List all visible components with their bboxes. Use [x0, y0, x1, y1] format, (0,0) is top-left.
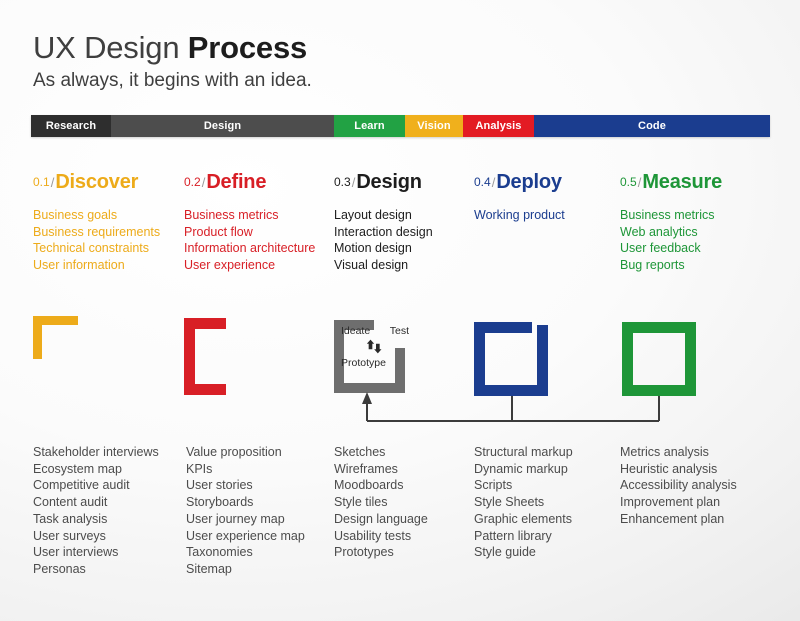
page-title: UX Design Process	[33, 30, 307, 66]
stage-separator: /	[352, 175, 356, 190]
deliverable-item: Graphic elements	[474, 511, 573, 528]
deliverable-item: User experience map	[186, 528, 305, 545]
stage-name: Design	[356, 171, 421, 193]
stage-number: 0.2	[184, 175, 201, 189]
deliverable-column: Structural markupDynamic markupScriptsSt…	[474, 444, 573, 561]
deliverable-column: Metrics analysisHeuristic analysisAccess…	[620, 444, 737, 528]
shape-measure-square	[622, 322, 696, 396]
stage-activity-item: Interaction design	[334, 224, 433, 241]
stage-separator: /	[51, 175, 55, 190]
deliverable-item: User surveys	[33, 528, 159, 545]
deliverable-item: Sketches	[334, 444, 428, 461]
deliverable-list: Value propositionKPIsUser storiesStorybo…	[186, 444, 305, 578]
phase-bar: ResearchDesignLearnVisionAnalysisCode	[31, 115, 770, 137]
deliverable-item: Improvement plan	[620, 494, 737, 511]
title-light-part: UX Design	[33, 30, 188, 65]
stage-activity-list: Business goalsBusiness requirementsTechn…	[33, 207, 160, 273]
deliverable-item: Content audit	[33, 494, 159, 511]
stage-column-define: 0.2/DefineBusiness metricsProduct flowIn…	[184, 172, 315, 273]
deliverable-list: SketchesWireframesMoodboardsStyle tilesD…	[334, 444, 428, 561]
phase-segment-vision[interactable]: Vision	[405, 115, 463, 137]
deliverable-item: Heuristic analysis	[620, 461, 737, 478]
page-subtitle: As always, it begins with an idea.	[33, 70, 312, 92]
deliverable-list: Stakeholder interviewsEcosystem mapCompe…	[33, 444, 159, 578]
deliverable-item: Style Sheets	[474, 494, 573, 511]
stage-activity-item: Motion design	[334, 240, 433, 257]
deliverable-column: SketchesWireframesMoodboardsStyle tilesD…	[334, 444, 428, 561]
deliverable-item: Design language	[334, 511, 428, 528]
stage-separator: /	[202, 175, 206, 190]
deliverable-item: Dynamic markup	[474, 461, 573, 478]
stage-activity-item: Visual design	[334, 257, 433, 274]
design-cycle-test: Test	[390, 325, 409, 337]
deliverable-item: Taxonomies	[186, 544, 305, 561]
deliverable-item: User interviews	[33, 544, 159, 561]
stage-activity-item: User information	[33, 257, 160, 274]
stage-activity-list: Business metricsProduct flowInformation …	[184, 207, 315, 273]
phase-segment-design[interactable]: Design	[111, 115, 334, 137]
stage-column-deploy: 0.4/DeployWorking product	[474, 172, 565, 224]
title-bold-part: Process	[188, 30, 307, 65]
deliverable-item: Prototypes	[334, 544, 428, 561]
cycle-arrows-icon	[365, 339, 387, 354]
deliverable-item: Scripts	[474, 477, 573, 494]
stage-separator: /	[492, 175, 496, 190]
deliverable-item: Ecosystem map	[33, 461, 159, 478]
stage-activity-item: Technical constraints	[33, 240, 160, 257]
stage-activity-item: Business metrics	[620, 207, 722, 224]
stage-heading-measure: 0.5/Measure	[620, 172, 722, 192]
deliverable-item: Style tiles	[334, 494, 428, 511]
deliverable-item: Structural markup	[474, 444, 573, 461]
deliverable-item: Pattern library	[474, 528, 573, 545]
design-cycle-prototype: Prototype	[341, 357, 411, 369]
deliverable-list: Metrics analysisHeuristic analysisAccess…	[620, 444, 737, 528]
stage-name: Discover	[55, 171, 138, 193]
deliverable-item: Metrics analysis	[620, 444, 737, 461]
phase-segment-analysis[interactable]: Analysis	[463, 115, 534, 137]
deliverable-item: Personas	[33, 561, 159, 578]
deliverable-list: Structural markupDynamic markupScriptsSt…	[474, 444, 573, 561]
stage-heading-deploy: 0.4/Deploy	[474, 172, 565, 192]
stage-number: 0.1	[33, 175, 50, 189]
deliverable-item: Task analysis	[33, 511, 159, 528]
deliverable-item: Moodboards	[334, 477, 428, 494]
stage-number: 0.5	[620, 175, 637, 189]
stage-separator: /	[638, 175, 642, 190]
stage-activity-item: Web analytics	[620, 224, 722, 241]
stage-activity-list: Working product	[474, 207, 565, 224]
stage-activity-item: Business goals	[33, 207, 160, 224]
design-cycle-labels: Ideate Test Prototype	[341, 325, 411, 369]
stage-heading-design: 0.3/Design	[334, 172, 433, 192]
deliverable-column: Value propositionKPIsUser storiesStorybo…	[186, 444, 305, 578]
deliverable-item: KPIs	[186, 461, 305, 478]
stage-number: 0.4	[474, 175, 491, 189]
shape-deploy-square	[474, 322, 548, 396]
design-cycle-ideate: Ideate	[341, 325, 370, 337]
deliverable-item: Value proposition	[186, 444, 305, 461]
stage-column-measure: 0.5/MeasureBusiness metricsWeb analytics…	[620, 172, 722, 273]
stage-heading-discover: 0.1/Discover	[33, 172, 160, 192]
phase-segment-code[interactable]: Code	[534, 115, 770, 137]
stage-activity-item: User experience	[184, 257, 315, 274]
stage-activity-item: Working product	[474, 207, 565, 224]
deliverable-item: Accessibility analysis	[620, 477, 737, 494]
stage-name: Define	[206, 171, 266, 193]
shape-discover-corner	[33, 316, 78, 359]
stage-activity-item: Information architecture	[184, 240, 315, 257]
stage-column-design: 0.3/DesignLayout designInteraction desig…	[334, 172, 433, 273]
deliverable-item: User stories	[186, 477, 305, 494]
deliverable-item: Competitive audit	[33, 477, 159, 494]
stage-activity-list: Layout designInteraction designMotion de…	[334, 207, 433, 273]
stage-column-discover: 0.1/DiscoverBusiness goalsBusiness requi…	[33, 172, 160, 273]
phase-segment-learn[interactable]: Learn	[334, 115, 405, 137]
phase-segment-research[interactable]: Research	[31, 115, 111, 137]
stage-number: 0.3	[334, 175, 351, 189]
stage-activity-item: User feedback	[620, 240, 722, 257]
deliverable-item: Style guide	[474, 544, 573, 561]
stage-heading-define: 0.2/Define	[184, 172, 315, 192]
deliverable-item: Sitemap	[186, 561, 305, 578]
stage-activity-item: Product flow	[184, 224, 315, 241]
deliverable-item: Usability tests	[334, 528, 428, 545]
stage-activity-item: Business requirements	[33, 224, 160, 241]
stage-name: Measure	[642, 171, 722, 193]
stage-activity-item: Layout design	[334, 207, 433, 224]
infographic-poster: UX Design Process As always, it begins w…	[0, 0, 800, 621]
stage-activity-list: Business metricsWeb analyticsUser feedba…	[620, 207, 722, 273]
feedback-arrow	[362, 392, 659, 421]
deliverable-item: Wireframes	[334, 461, 428, 478]
shape-define-bracket	[184, 318, 226, 395]
deliverable-item: User journey map	[186, 511, 305, 528]
deliverable-item: Stakeholder interviews	[33, 444, 159, 461]
stage-activity-item: Bug reports	[620, 257, 722, 274]
stage-activity-item: Business metrics	[184, 207, 315, 224]
deliverable-item: Enhancement plan	[620, 511, 737, 528]
stage-name: Deploy	[496, 171, 561, 193]
deliverable-item: Storyboards	[186, 494, 305, 511]
deliverable-column: Stakeholder interviewsEcosystem mapCompe…	[33, 444, 159, 578]
